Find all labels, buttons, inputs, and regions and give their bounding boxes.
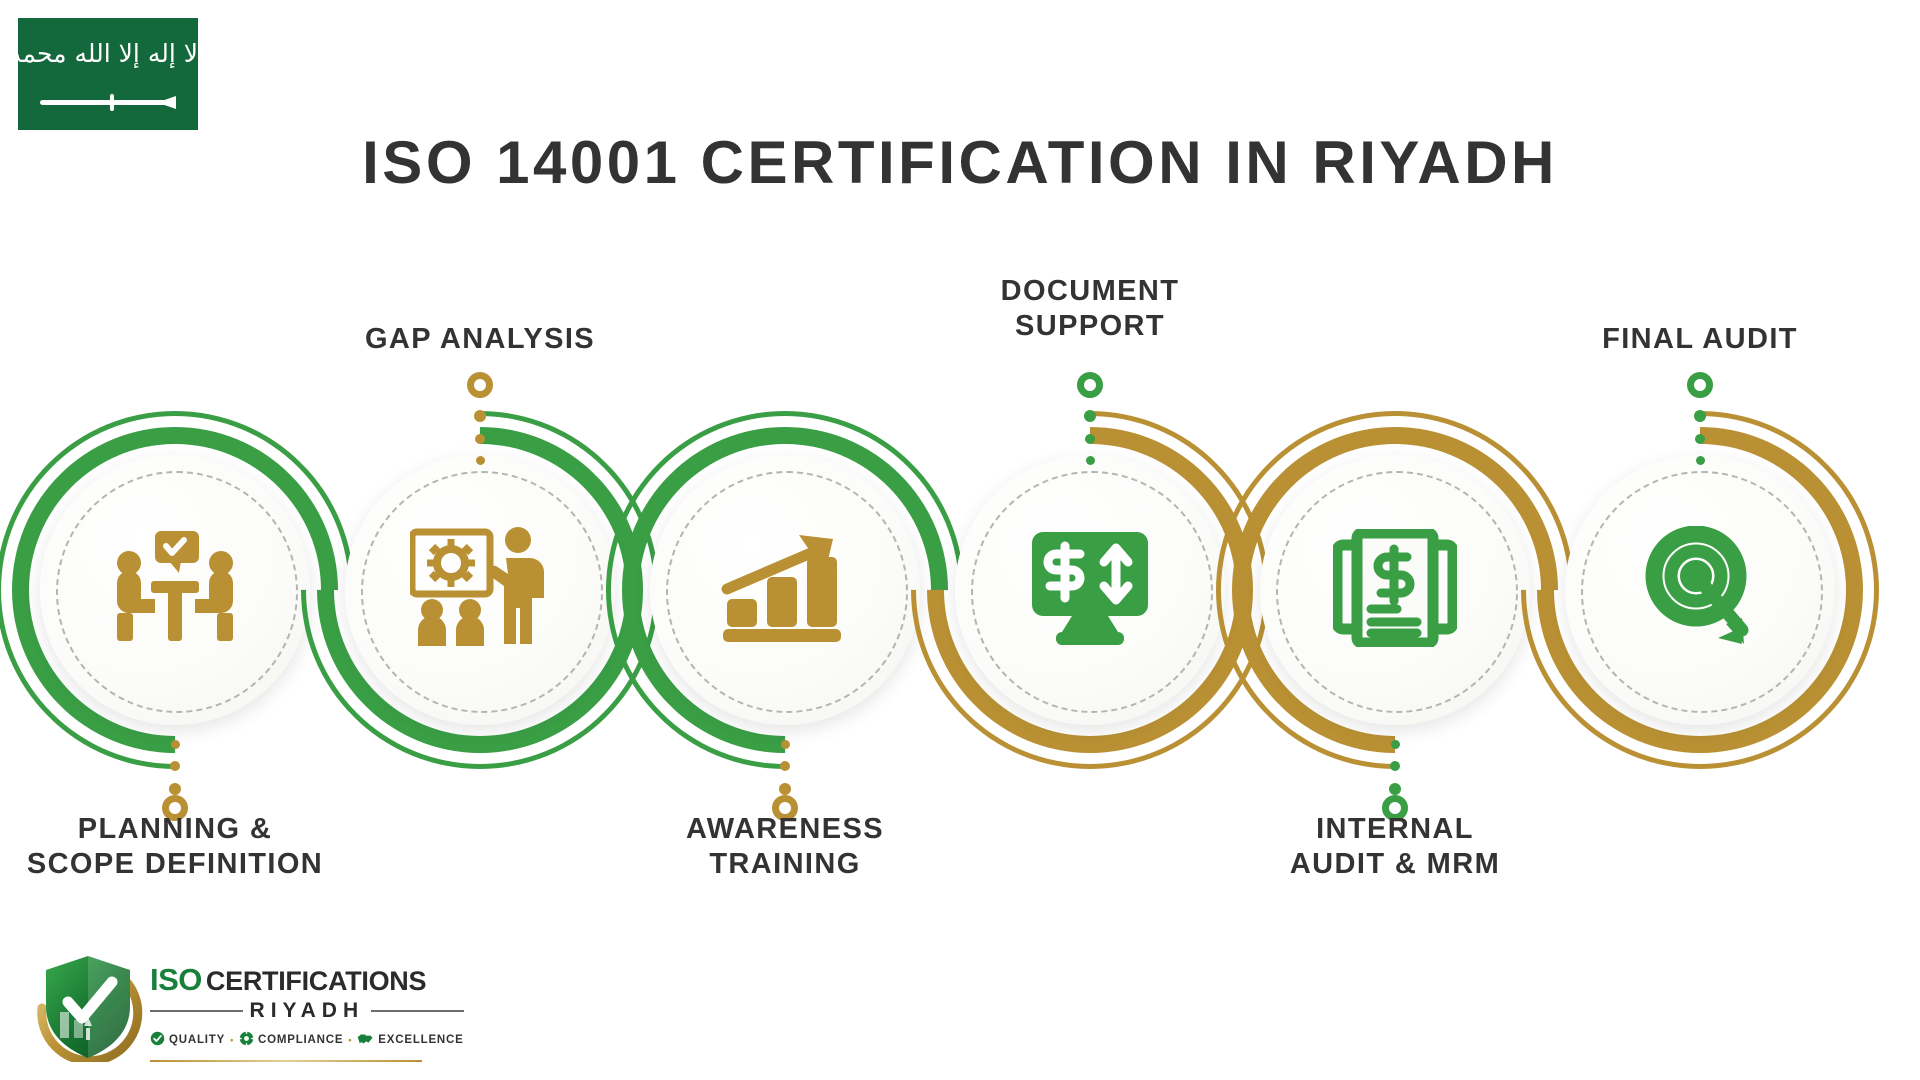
- step-label-1: PLANNING & SCOPE DEFINITION: [0, 812, 355, 883]
- tagline-label: QUALITY: [169, 1034, 225, 1046]
- connector-dot-large: [169, 783, 181, 795]
- target-arrow-bullseye-icon: [1638, 526, 1762, 655]
- step-disc-3[interactable]: [650, 455, 920, 725]
- connector-dot-small: [1391, 740, 1400, 749]
- presentation-training-gear-icon: [410, 526, 550, 655]
- process-step-5[interactable]: [1260, 455, 1530, 725]
- step-connector-5: [1375, 728, 1415, 821]
- step-disc-4[interactable]: [955, 455, 1225, 725]
- tagline-item-compliance: COMPLIANCE: [239, 1031, 343, 1049]
- connector-ring-icon: [1077, 372, 1103, 398]
- tagline-label: COMPLIANCE: [258, 1034, 343, 1046]
- step-label-4: DOCUMENT SUPPORT: [910, 274, 1270, 345]
- connector-dot-medium: [475, 434, 485, 444]
- connector-dot-large: [779, 783, 791, 795]
- tagline-separator: •: [348, 1035, 352, 1045]
- logo-certifications-text: CERTIFICATIONS: [206, 966, 426, 997]
- logo-underline: [150, 1060, 422, 1062]
- step-disc-1[interactable]: [40, 455, 310, 725]
- logo-iso-text: ISO: [150, 962, 202, 998]
- step-connector-6: [1680, 372, 1720, 465]
- connector-dot-small: [1086, 456, 1095, 465]
- connector-dot-medium: [1085, 434, 1095, 444]
- step-connector-4: [1070, 372, 1110, 465]
- tagline-label: EXCELLENCE: [378, 1034, 463, 1046]
- connector-dot-large: [1389, 783, 1401, 795]
- tagline-separator: •: [230, 1035, 234, 1045]
- logo-tagline: QUALITY•COMPLIANCE•EXCELLENCE: [150, 1031, 464, 1049]
- check-circle-icon: [150, 1031, 165, 1049]
- connector-dot-small: [476, 456, 485, 465]
- connector-dot-large: [1084, 410, 1096, 422]
- infographic-canvas: لا إله إلا الله محمد رسول الله ISO 14001…: [0, 0, 1920, 1080]
- connector-ring-icon: [1687, 372, 1713, 398]
- connector-dot-medium: [780, 761, 790, 771]
- handshake-icon: [357, 1031, 374, 1049]
- logo-riyadh-text: RIYADH: [250, 999, 365, 1023]
- process-step-6[interactable]: [1565, 455, 1835, 725]
- logo-rule-right: [371, 1010, 464, 1012]
- process-steps-band: PLANNING & SCOPE DEFINITION GAP ANALYSIS: [0, 0, 1920, 1080]
- process-step-2[interactable]: [345, 455, 615, 725]
- growth-bar-chart-arrow-icon: [721, 529, 849, 652]
- step-label-5: INTERNAL AUDIT & MRM: [1215, 812, 1575, 883]
- connector-dot-medium: [1695, 434, 1705, 444]
- people-meeting-approval-icon: [111, 529, 239, 652]
- step-connector-2: [460, 372, 500, 465]
- step-disc-2[interactable]: [345, 455, 615, 725]
- connector-dot-medium: [170, 761, 180, 771]
- monitor-dollar-arrows-icon: [1028, 528, 1152, 653]
- step-disc-6[interactable]: [1565, 455, 1835, 725]
- tagline-item-excellence: EXCELLENCE: [357, 1031, 463, 1049]
- brand-logo: ISOCERTIFICATIONS RIYADH QUALITY•COMPLIA…: [28, 948, 423, 1066]
- green-shield-checkmark-icon: [32, 950, 144, 1062]
- connector-dot-small: [1696, 456, 1705, 465]
- process-step-4[interactable]: [955, 455, 1225, 725]
- step-label-2: GAP ANALYSIS: [300, 322, 660, 357]
- step-label-3: AWARENESS TRAINING: [605, 812, 965, 883]
- connector-dot-large: [1694, 410, 1706, 422]
- process-step-3[interactable]: [650, 455, 920, 725]
- tagline-item-quality: QUALITY: [150, 1031, 225, 1049]
- connector-dot-small: [781, 740, 790, 749]
- step-label-6: FINAL AUDIT: [1520, 322, 1880, 357]
- connector-dot-large: [474, 410, 486, 422]
- connector-dot-small: [171, 740, 180, 749]
- step-connector-1: [155, 728, 195, 821]
- connector-dot-medium: [1390, 761, 1400, 771]
- connector-ring-icon: [467, 372, 493, 398]
- step-disc-5[interactable]: [1260, 455, 1530, 725]
- logo-riyadh-row: RIYADH: [150, 999, 464, 1023]
- gear-icon: [239, 1031, 254, 1049]
- process-step-1[interactable]: [40, 455, 310, 725]
- step-connector-3: [765, 728, 805, 821]
- stacked-documents-dollar-icon: [1333, 529, 1457, 652]
- logo-wordmark: ISOCERTIFICATIONS RIYADH QUALITY•COMPLIA…: [150, 962, 464, 1049]
- logo-rule-left: [150, 1010, 243, 1012]
